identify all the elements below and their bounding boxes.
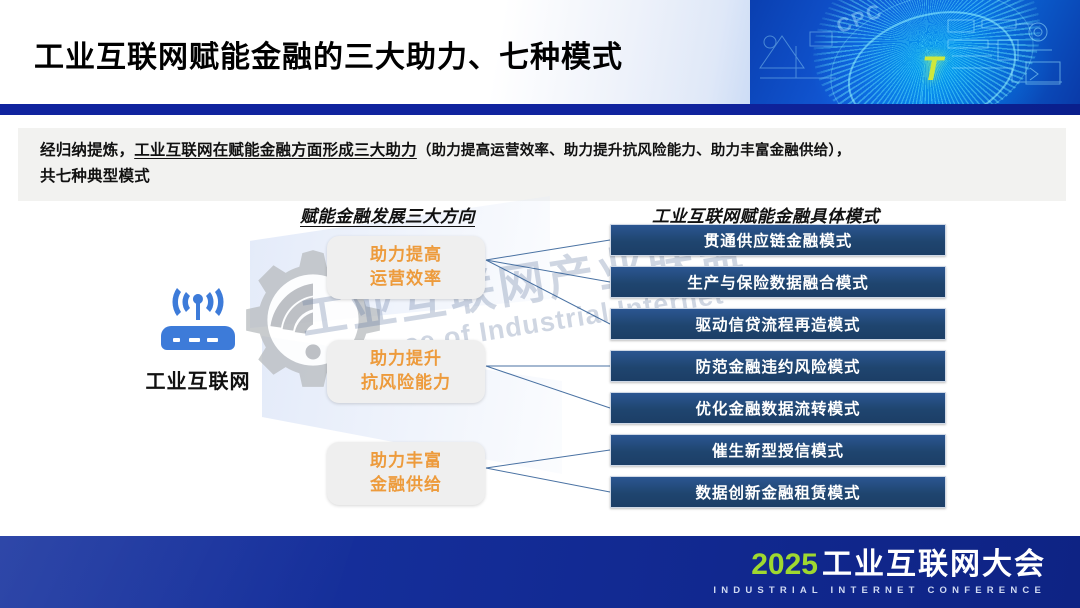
direction-2-line-1: 助力提升 <box>331 347 481 371</box>
conference-logo: 2025工业互联网大会 INDUSTRIAL INTERNET CONFEREN… <box>713 550 1046 596</box>
direction-3-line-1: 助力丰富 <box>331 449 481 473</box>
mode-box-1[interactable]: 贯通供应链金融模式 <box>610 224 946 256</box>
conference-logo-row: 2025工业互联网大会 <box>713 550 1046 580</box>
direction-box-3[interactable]: 助力丰富 金融供给 <box>327 442 485 505</box>
summary-part-paren: （助力提高运营效率、助力提升抗风险能力、助力丰富金融供给）， <box>417 143 851 159</box>
source-node: 工业互联网 <box>118 286 278 394</box>
direction-3-line-2: 金融供给 <box>331 473 481 497</box>
direction-1-line-1: 助力提高 <box>331 243 481 267</box>
slide-footer: 2025工业互联网大会 INDUSTRIAL INTERNET CONFEREN… <box>0 536 1080 608</box>
mode-box-5[interactable]: 优化金融数据流转模式 <box>610 392 946 424</box>
direction-box-2[interactable]: 助力提升 抗风险能力 <box>327 340 485 403</box>
page-title: 工业互联网赋能金融的三大助力、七种模式 <box>34 32 623 76</box>
mode-box-4[interactable]: 防范金融违约风险模式 <box>610 350 946 382</box>
conference-name-cn: 工业互联网大会 <box>822 548 1046 581</box>
t-logo-glyph: T <box>922 50 941 89</box>
summary-part-underlined: 工业互联网在赋能金融方面形成三大助力 <box>134 142 417 159</box>
conference-name-en: INDUSTRIAL INTERNET CONFERENCE <box>713 585 1046 596</box>
wifi-router-icon <box>155 286 241 356</box>
mode-box-3[interactable]: 驱动信贷流程再造模式 <box>610 308 946 340</box>
presentation-slide: CPC T 工业互联网赋能金融的三大助力、七种模式 经归纳提炼，工业互联网在赋能… <box>0 0 1080 608</box>
mode-box-2[interactable]: 生产与保险数据融合模式 <box>610 266 946 298</box>
conference-year: 2025 <box>751 548 818 581</box>
direction-1-line-2: 运营效率 <box>331 267 481 291</box>
left-column-heading: 赋能金融发展三大方向 <box>300 202 475 227</box>
circuit-pattern-secondary-icon <box>756 18 842 88</box>
slide-header: CPC T 工业互联网赋能金融的三大助力、七种模式 <box>0 0 1080 104</box>
mode-box-7[interactable]: 数据创新金融租赁模式 <box>610 476 946 508</box>
direction-box-1[interactable]: 助力提高 运营效率 <box>327 236 485 299</box>
title-divider-bar <box>0 104 1080 115</box>
circuit-pattern-icon <box>942 10 1072 96</box>
direction-2-line-2: 抗风险能力 <box>331 371 481 395</box>
footer-sheen <box>0 536 364 608</box>
summary-part-1: 经归纳提炼， <box>40 142 134 159</box>
tech-decoration-graphic: CPC T <box>750 0 1080 104</box>
diagram-area: 工业互联网产业联盟 Alliance of Industrial Interne… <box>0 196 1080 536</box>
summary-text-box: 经归纳提炼，工业互联网在赋能金融方面形成三大助力（助力提高运营效率、助力提升抗风… <box>18 128 1066 201</box>
mode-box-6[interactable]: 催生新型授信模式 <box>610 434 946 466</box>
summary-line-2: 共七种典型模式 <box>40 164 1060 189</box>
source-node-label: 工业互联网 <box>118 365 278 394</box>
summary-line-1: 经归纳提炼，工业互联网在赋能金融方面形成三大助力（助力提高运营效率、助力提升抗风… <box>40 138 1060 164</box>
